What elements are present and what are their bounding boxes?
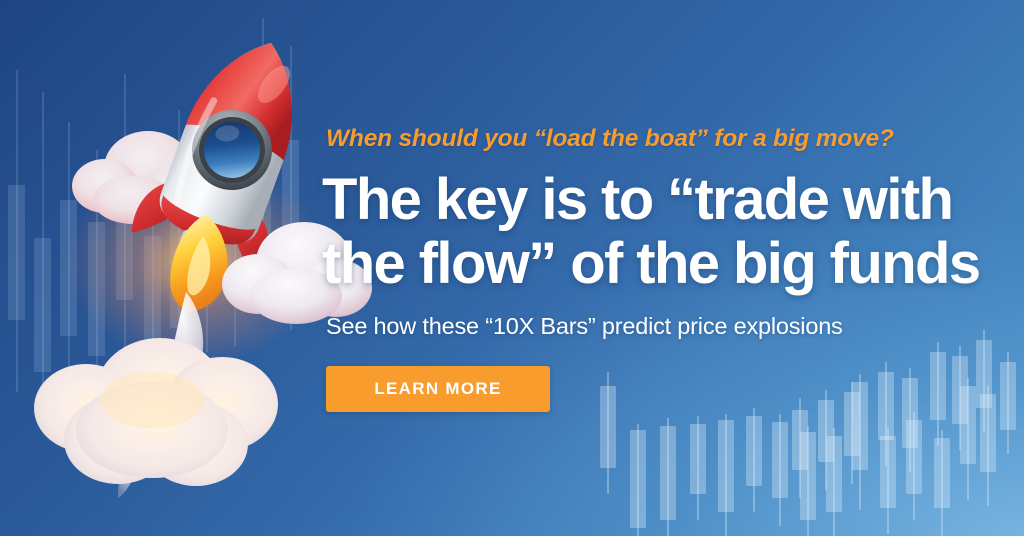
candlestick-body [1000, 362, 1016, 430]
headline-line-1: The key is to “trade with [322, 167, 952, 232]
cloud-large-icon [34, 338, 278, 486]
candlestick-wick [1007, 352, 1009, 454]
headline-line-2: the flow” of the big funds [322, 232, 1002, 296]
copy-block: When should you “load the boat” for a bi… [326, 0, 986, 536]
learn-more-button[interactable]: LEARN MORE [326, 366, 550, 412]
candlestick-wick [987, 386, 989, 506]
promo-banner: When should you “load the boat” for a bi… [0, 0, 1024, 536]
candlestick [1000, 352, 1016, 454]
subheadline-text: See how these “10X Bars” predict price e… [326, 313, 986, 340]
page-title: The key is to “trade with the flow” of t… [322, 168, 1002, 296]
eyebrow-text: When should you “load the boat” for a bi… [326, 125, 986, 153]
